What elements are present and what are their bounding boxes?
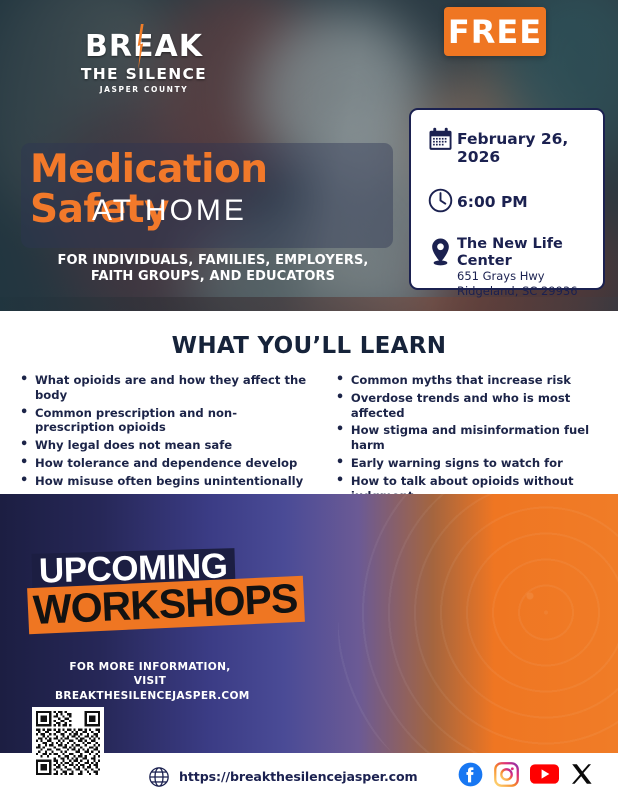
- logo-county-label: JASPER COUNTY: [78, 85, 210, 94]
- free-badge: FREE: [444, 7, 546, 56]
- map-pin-icon: [423, 236, 457, 267]
- hero-banner: BREAK THE SILENCE JASPER COUNTY FREE Med…: [0, 0, 618, 311]
- qr-code-image: [36, 711, 100, 775]
- list-item: Overdose trends and who is most affected: [334, 391, 608, 421]
- list-item: Early warning signs to watch for: [334, 456, 608, 471]
- list-item: How tolerance and dependence develop: [18, 456, 309, 471]
- logo-break-text: BREAK: [85, 32, 203, 62]
- event-time: 6:00 PM: [457, 186, 528, 211]
- clock-icon: [423, 186, 457, 214]
- learn-heading: WHAT YOU’LL LEARN: [0, 333, 618, 359]
- what-youll-learn-section: WHAT YOU’LL LEARN What opioids are and h…: [0, 311, 618, 487]
- footer-url[interactable]: https://breakthesilencejasper.com: [179, 769, 418, 784]
- audience-line-2: FAITH GROUPS, AND EDUCATORS: [91, 269, 335, 284]
- event-location-text: The New Life Center 651 Grays Hwy Ridgel…: [457, 236, 593, 298]
- event-location-row: The New Life Center 651 Grays Hwy Ridgel…: [423, 236, 593, 298]
- calendar-icon: [423, 125, 457, 153]
- social-links: [458, 762, 594, 792]
- x-twitter-icon[interactable]: [570, 762, 594, 791]
- list-item: Common prescription and non-prescription…: [18, 406, 309, 436]
- globe-icon: [148, 766, 170, 788]
- list-item: How stigma and misinformation fuel harm: [334, 423, 608, 453]
- audience-text: FOR INDIVIDUALS, FAMILIES, EMPLOYERS, FA…: [33, 253, 393, 286]
- event-date-row: February 26, 2026: [423, 125, 593, 166]
- brand-logo: BREAK THE SILENCE JASPER COUNTY: [78, 32, 210, 94]
- more-information-text: FOR MORE INFORMATION, VISIT BREAKTHESILE…: [55, 660, 245, 703]
- decorative-swirl: [338, 494, 618, 753]
- facebook-icon[interactable]: [458, 762, 483, 792]
- hero-bottom-edge: [0, 297, 618, 311]
- audience-line-1: FOR INDIVIDUALS, FAMILIES, EMPLOYERS,: [58, 253, 369, 268]
- list-item: Common myths that increase risk: [334, 373, 608, 388]
- event-address-line-2: Ridgeland, SC 29936: [457, 284, 593, 298]
- list-item: How misuse often begins unintentionally: [18, 474, 309, 489]
- list-item: What opioids are and how they affect the…: [18, 373, 309, 403]
- event-details-card: February 26, 2026 6:00 PM The New Life: [409, 108, 605, 290]
- more-info-line-2: BREAKTHESILENCEJASPER.COM: [55, 690, 250, 702]
- page-subtitle: AT HOME: [92, 194, 392, 227]
- workshops-title-line-2: WORKSHOPS: [27, 576, 305, 635]
- workshops-title: UPCOMING WORKSHOPS: [32, 551, 257, 628]
- qr-code[interactable]: [32, 707, 104, 779]
- logo-break-label: BREAK: [85, 29, 203, 64]
- event-date: February 26, 2026: [457, 125, 593, 166]
- logo-silence-label: THE SILENCE: [78, 65, 210, 83]
- more-info-line-1: FOR MORE INFORMATION, VISIT: [69, 661, 230, 687]
- instagram-icon[interactable]: [494, 762, 519, 792]
- list-item: Why legal does not mean safe: [18, 438, 309, 453]
- event-time-row: 6:00 PM: [423, 186, 593, 214]
- youtube-icon[interactable]: [530, 763, 559, 790]
- event-venue: The New Life Center: [457, 236, 593, 269]
- event-address-line-1: 651 Grays Hwy: [457, 269, 593, 283]
